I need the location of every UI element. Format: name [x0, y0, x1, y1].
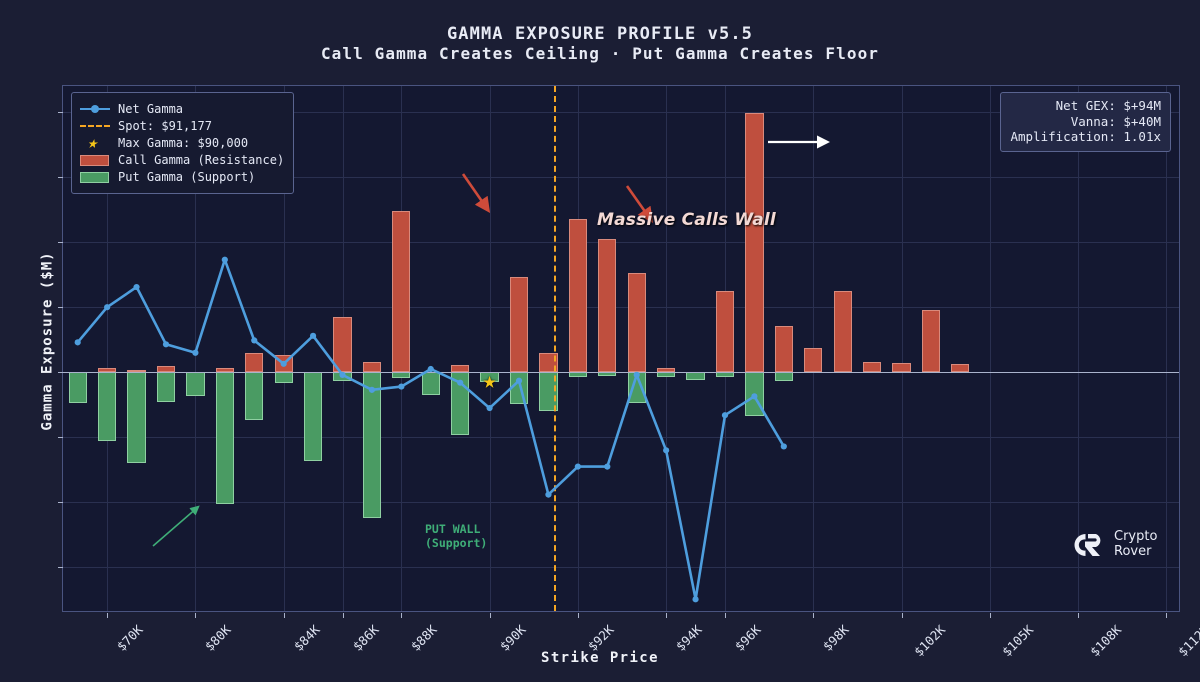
put-gamma-bar: [628, 372, 646, 403]
legend-item-call-gamma[interactable]: Call Gamma (Resistance): [80, 151, 284, 168]
square-swatch-icon: [80, 153, 110, 167]
call-gamma-bar: [363, 362, 381, 372]
grid-line-vertical: [666, 86, 667, 611]
call-gamma-bar: [834, 291, 852, 372]
y-axis-tick-mark: [58, 502, 63, 503]
call-gamma-bar: [275, 355, 293, 372]
legend-label: Call Gamma (Resistance): [118, 153, 284, 167]
call-gamma-bar: [451, 365, 469, 372]
y-axis-tick-mark: [58, 307, 63, 308]
line-marker-icon: [80, 102, 110, 116]
put-wall-line1: PUT WALL: [425, 522, 487, 536]
arrow-to-put-wall-bar: [153, 507, 198, 546]
put-gamma-bar: [216, 372, 234, 504]
zero-axis-line: [63, 372, 1179, 373]
annotation-put-wall: PUT WALL (Support): [425, 522, 487, 550]
put-gamma-bar: [245, 372, 263, 420]
net-gamma-point: [604, 464, 610, 470]
chart-legend[interactable]: Net Gamma Spot: $91,177 ★ Max Gamma: $90…: [71, 92, 294, 194]
call-gamma-bar: [922, 310, 940, 372]
page-title: GAMMA EXPOSURE PROFILE v5.5: [0, 24, 1200, 44]
grid-line-vertical: [490, 86, 491, 611]
legend-label: Net Gamma: [118, 102, 183, 116]
x-axis-tick-mark: [666, 613, 667, 618]
put-gamma-bar: [363, 372, 381, 518]
net-gamma-point: [545, 491, 551, 497]
square-swatch-icon: [80, 170, 110, 184]
y-axis-tick-mark: [58, 177, 63, 178]
call-gamma-bar: [392, 211, 410, 372]
legend-label: Max Gamma: $90,000: [118, 136, 248, 150]
call-gamma-bar: [157, 366, 175, 373]
call-gamma-bar: [569, 219, 587, 373]
put-gamma-bar: [69, 372, 87, 403]
net-gamma-point: [781, 443, 787, 449]
plot-area: ★ Massive Calls Wall PUT WALL (Suppor: [62, 85, 1180, 612]
stat-vanna: Vanna: $+40M: [1010, 114, 1161, 130]
put-gamma-bar: [157, 372, 175, 402]
y-axis-tick-mark: [58, 437, 63, 438]
put-gamma-bar: [186, 372, 204, 396]
put-gamma-bar: [98, 372, 116, 441]
put-gamma-bar: [127, 372, 145, 463]
x-axis-tick-mark: [990, 613, 991, 618]
dashed-line-icon: [80, 119, 110, 133]
grid-line-horizontal: [63, 567, 1179, 568]
chart-root: GAMMA EXPOSURE PROFILE v5.5 Call Gamma C…: [0, 0, 1200, 682]
call-gamma-bar: [716, 291, 734, 372]
watermark: Crypto Rover: [1071, 530, 1157, 559]
x-axis-tick-mark: [284, 613, 285, 618]
call-gamma-bar: [333, 317, 351, 372]
legend-label: Put Gamma (Support): [118, 170, 255, 184]
put-gamma-bar: [422, 372, 440, 395]
x-axis-tick-mark: [813, 613, 814, 618]
watermark-line1: Crypto: [1114, 530, 1157, 545]
put-gamma-bar: [745, 372, 763, 416]
x-axis-tick-mark: [578, 613, 579, 618]
x-axis-tick-mark: [725, 613, 726, 618]
stat-amplification: Amplification: 1.01x: [1010, 129, 1161, 145]
grid-line-horizontal: [63, 242, 1179, 243]
net-gamma-point: [133, 284, 139, 290]
net-gamma-point: [222, 257, 228, 263]
x-axis-tick-mark: [1166, 613, 1167, 618]
net-gamma-point: [310, 333, 316, 339]
watermark-line2: Rover: [1114, 545, 1157, 560]
watermark-text: Crypto Rover: [1114, 530, 1157, 559]
grid-line-vertical: [990, 86, 991, 611]
net-gamma-point: [251, 337, 257, 343]
spot-price-line: [554, 86, 556, 611]
x-axis-tick-mark: [1078, 613, 1079, 618]
grid-line-horizontal: [63, 307, 1179, 308]
legend-label: Spot: $91,177: [118, 119, 212, 133]
y-axis-tick-mark: [58, 567, 63, 568]
legend-item-spot[interactable]: Spot: $91,177: [80, 117, 284, 134]
put-gamma-bar: [686, 372, 704, 380]
x-axis-title: Strike Price: [0, 650, 1200, 666]
put-gamma-bar: [333, 372, 351, 381]
x-axis-tick-mark: [490, 613, 491, 618]
cr-logo-icon: [1071, 532, 1105, 558]
call-gamma-bar: [598, 239, 616, 372]
net-gamma-point: [163, 341, 169, 347]
annotation-massive-calls-wall: Massive Calls Wall: [597, 210, 776, 230]
put-gamma-bar: [510, 372, 528, 404]
x-axis-tick-mark: [195, 613, 196, 618]
put-gamma-bar: [451, 372, 469, 434]
legend-item-put-gamma[interactable]: Put Gamma (Support): [80, 168, 284, 185]
call-gamma-bar: [245, 353, 263, 373]
arrow-to-call-wall-left: [463, 174, 488, 210]
call-gamma-bar: [745, 113, 763, 373]
call-gamma-bar: [775, 326, 793, 372]
call-gamma-bar: [510, 277, 528, 373]
star-icon: ★: [80, 136, 110, 150]
put-gamma-bar: [304, 372, 322, 461]
y-axis-title: Gamma Exposure ($M): [40, 251, 56, 430]
x-axis-tick-mark: [107, 613, 108, 618]
stats-box: Net GEX: $+94M Vanna: $+40M Amplificatio…: [1000, 92, 1171, 152]
x-axis-tick-mark: [902, 613, 903, 618]
stat-net-gex: Net GEX: $+94M: [1010, 98, 1161, 114]
y-axis-tick-mark: [58, 372, 63, 373]
call-gamma-bar: [863, 362, 881, 372]
y-axis-tick-mark: [58, 112, 63, 113]
net-gamma-point: [428, 366, 434, 372]
net-gamma-point: [75, 339, 81, 345]
put-gamma-bar: [775, 372, 793, 380]
put-gamma-bar: [275, 372, 293, 383]
x-axis-tick-mark: [343, 613, 344, 618]
call-gamma-bar: [628, 273, 646, 372]
y-axis-tick-mark: [58, 242, 63, 243]
legend-item-net-gamma[interactable]: Net Gamma: [80, 100, 284, 117]
legend-item-max-gamma[interactable]: ★ Max Gamma: $90,000: [80, 134, 284, 151]
call-gamma-bar: [804, 348, 822, 373]
call-gamma-bar: [892, 363, 910, 372]
call-gamma-bar: [951, 364, 969, 372]
grid-line-vertical: [902, 86, 903, 611]
grid-line-vertical: [1166, 86, 1167, 611]
page-subtitle: Call Gamma Creates Ceiling · Put Gamma C…: [0, 44, 1200, 63]
x-axis-tick-mark: [401, 613, 402, 618]
put-wall-line2: (Support): [425, 536, 487, 550]
net-gamma-point: [692, 596, 698, 602]
